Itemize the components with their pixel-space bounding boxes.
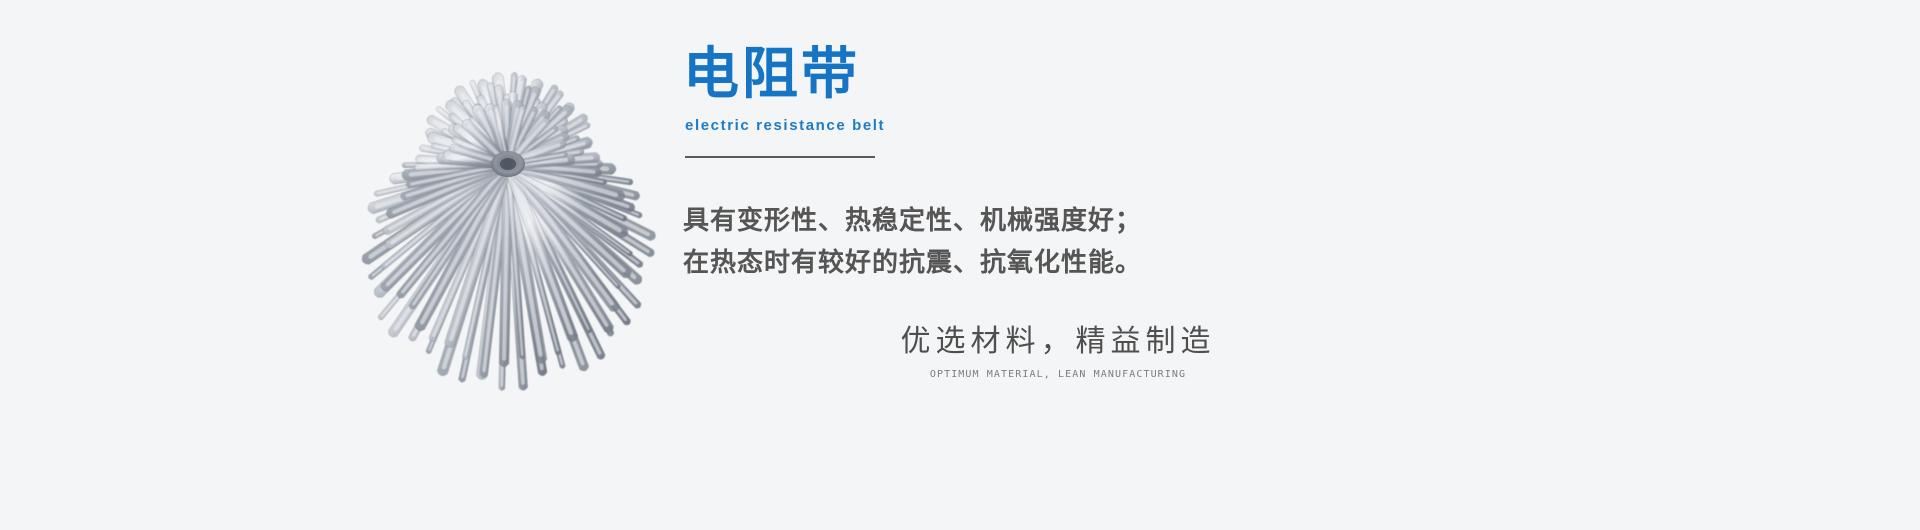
copy-column: 电阻带 electric resistance belt 具有变形性、热稳定性、… bbox=[683, 46, 1383, 284]
feature-list: 具有变形性、热稳定性、机械强度好； 在热态时有较好的抗震、抗氧化性能。 bbox=[683, 200, 1383, 284]
slogan-english: OPTIMUM MATERIAL, LEAN MANUFACTURING bbox=[778, 369, 1338, 380]
page-subtitle: electric resistance belt bbox=[685, 117, 1383, 134]
product-image bbox=[340, 44, 740, 444]
page-title: 电阻带 bbox=[683, 46, 1383, 105]
slogan-block: 优选材料，精益制造 OPTIMUM MATERIAL, LEAN MANUFAC… bbox=[778, 322, 1338, 380]
feature-line-2: 在热态时有较好的抗震、抗氧化性能。 bbox=[683, 242, 1383, 284]
title-divider bbox=[685, 156, 875, 158]
slogan-chinese: 优选材料，精益制造 bbox=[778, 322, 1338, 361]
feature-line-1: 具有变形性、热稳定性、机械强度好； bbox=[683, 200, 1383, 242]
product-banner: 电阻带 electric resistance belt 具有变形性、热稳定性、… bbox=[0, 0, 1920, 530]
